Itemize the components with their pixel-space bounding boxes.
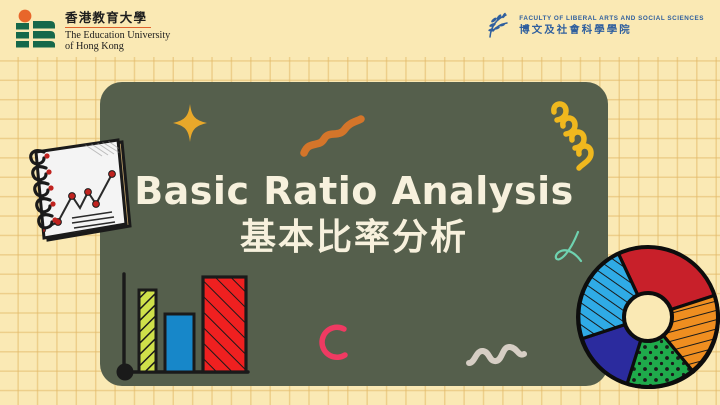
orange-zigzag-squiggle: [300, 115, 366, 157]
donut-pie-chart-illustration: [576, 245, 720, 389]
eduhk-chinese-name: 香港教育大學: [65, 11, 170, 24]
eduhk-logo-mark: [14, 9, 58, 49]
faculty-logo: FACULTY OF LIBERAL ARTS AND SOCIAL SCIEN…: [485, 11, 704, 41]
eduhk-english-name-line2: of Hong Kong: [65, 41, 170, 52]
presentation-slide: 香港教育大學 The Education University of Hong …: [0, 0, 720, 405]
eduhk-english-name-line1: The Education University: [65, 30, 170, 41]
pink-arc-icon: [312, 322, 352, 364]
eduhk-logo: 香港教育大學 The Education University of Hong …: [14, 9, 170, 53]
eduhk-divider-rule: [65, 27, 151, 28]
faculty-chinese-name: 博文及社會科學學院: [519, 25, 704, 35]
bar-chart-illustration: [112, 268, 252, 386]
faculty-laurel-mark: [485, 11, 515, 41]
faculty-english-name: FACULTY OF LIBERAL ARTS AND SOCIAL SCIEN…: [519, 16, 704, 22]
yellow-coil-spiral: [544, 98, 600, 174]
four-point-star-icon: [172, 104, 208, 142]
eduhk-logo-text: 香港教育大學 The Education University of Hong …: [65, 9, 170, 53]
gray-wave-squiggle: [466, 340, 528, 370]
spiral-notepad-line-chart: [14, 134, 132, 246]
faculty-logo-text: FACULTY OF LIBERAL ARTS AND SOCIAL SCIEN…: [519, 16, 704, 35]
